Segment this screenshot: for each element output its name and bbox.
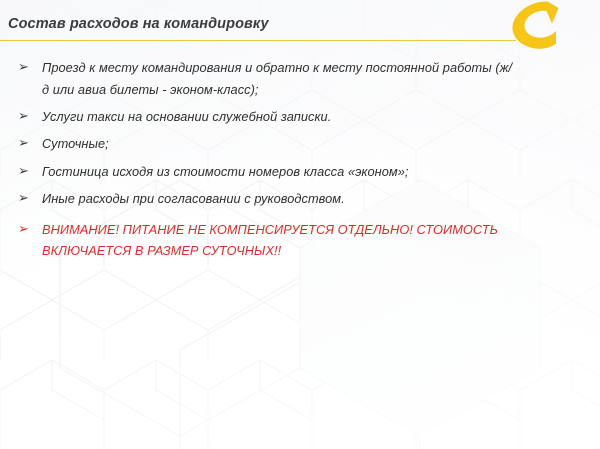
list-item: ➢ Гостиница исходя из стоимости номеров … — [0, 161, 600, 183]
arrowhead-bullet-icon: ➢ — [18, 219, 42, 241]
arrowhead-bullet-icon: ➢ — [18, 188, 42, 210]
bullet-list: ➢ Проезд к месту командирования и обратн… — [0, 57, 600, 267]
arrowhead-bullet-icon: ➢ — [18, 106, 42, 128]
list-item: ➢ Суточные; — [0, 133, 600, 155]
arrowhead-bullet-icon: ➢ — [18, 57, 42, 79]
list-item: ➢ Проезд к месту командирования и обратн… — [0, 57, 600, 100]
yellow-swirl-logo-icon — [506, 0, 564, 56]
list-item-text: Услуги такси на основании служебной запи… — [42, 106, 518, 128]
title-divider — [0, 40, 516, 41]
arrowhead-bullet-icon: ➢ — [18, 161, 42, 183]
warning-text: ВНИМАНИЕ! ПИТАНИЕ НЕ КОМПЕНСИРУЕТСЯ ОТДЕ… — [42, 219, 512, 262]
list-item-text: Иные расходы при согласовании с руководс… — [42, 188, 518, 210]
list-item: ➢ Услуги такси на основании служебной за… — [0, 106, 600, 128]
list-item: ➢ Иные расходы при согласовании с руково… — [0, 188, 600, 210]
arrowhead-bullet-icon: ➢ — [18, 133, 42, 155]
list-item-text: Суточные; — [42, 133, 518, 155]
list-item-warning: ➢ ВНИМАНИЕ! ПИТАНИЕ НЕ КОМПЕНСИРУЕТСЯ ОТ… — [0, 219, 600, 262]
list-item-text: Гостиница исходя из стоимости номеров кл… — [42, 161, 518, 183]
list-item-text: Проезд к месту командирования и обратно … — [42, 57, 518, 100]
page-title: Состав расходов на командировку — [8, 16, 269, 32]
slide-canvas: Состав расходов на командировку ➢ Проезд… — [0, 0, 600, 449]
